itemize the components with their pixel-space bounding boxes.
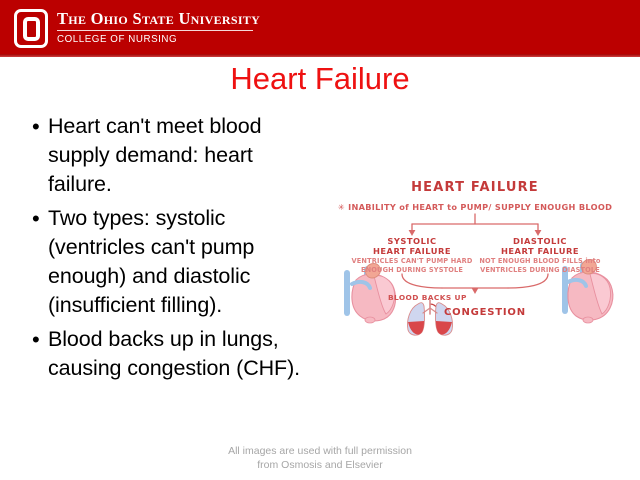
branch-heading-line2: HEART FAILURE <box>488 246 592 256</box>
branch-heading-line1: SYSTOLIC <box>360 236 464 246</box>
branch-heading-diastolic: DIASTOLIC HEART FAILURE <box>488 236 592 256</box>
bullet-glyph: • <box>26 325 48 354</box>
outcome-label: BLOOD BACKS UP <box>388 293 467 302</box>
bullet-text: Heart can't meet blood supply demand: he… <box>48 112 316 199</box>
branch-body-line1: NOT ENOUGH BLOOD FILLS into <box>479 257 601 266</box>
list-item: • Blood backs up in lungs, causing conge… <box>26 325 316 383</box>
page-title: Heart Failure <box>0 61 640 97</box>
list-item: • Two types: systolic (ventricles can't … <box>26 204 316 320</box>
branch-body-line2: VENTRICLES DURING DIASTOLE <box>479 266 601 275</box>
wordmark: The Ohio State University COLLEGE OF NUR… <box>57 9 260 45</box>
brand-lockup: The Ohio State University COLLEGE OF NUR… <box>14 9 260 48</box>
diagram-subtitle: ✳ INABILITY of HEART to PUMP/ SUPPLY ENO… <box>316 202 634 212</box>
bullet-glyph: • <box>26 112 48 141</box>
heart-failure-flow-diagram: HEART FAILURE ✳ INABILITY of HEART to PU… <box>316 180 634 345</box>
list-item: • Heart can't meet blood supply demand: … <box>26 112 316 199</box>
slide-header-band: The Ohio State University COLLEGE OF NUR… <box>0 0 640 57</box>
credit-line-2: from Osmosis and Elsevier <box>0 458 640 472</box>
block-o-inner-shape <box>23 17 40 41</box>
college-name: COLLEGE OF NURSING <box>57 33 246 45</box>
wordmark-divider <box>57 30 253 31</box>
branch-heading-line2: HEART FAILURE <box>360 246 464 256</box>
image-credit-footer: All images are used with full permission… <box>0 444 640 472</box>
osu-block-o-icon <box>14 9 48 48</box>
outcome-result: CONGESTION <box>444 307 526 318</box>
branch-heading-line1: DIASTOLIC <box>488 236 592 246</box>
bullet-glyph: • <box>26 204 48 233</box>
bullet-text: Two types: systolic (ventricles can't pu… <box>48 204 316 320</box>
credit-line-1: All images are used with full permission <box>0 444 640 458</box>
branch-body-line1: VENTRICLES CAN'T PUMP HARD <box>351 257 473 266</box>
diagram-title: HEART FAILURE <box>316 180 634 195</box>
branch-body-systolic: VENTRICLES CAN'T PUMP HARD ENOUGH DURING… <box>351 257 473 274</box>
branch-body-line2: ENOUGH DURING SYSTOLE <box>351 266 473 275</box>
bullet-list: • Heart can't meet blood supply demand: … <box>26 112 316 388</box>
branch-body-diastolic: NOT ENOUGH BLOOD FILLS into VENTRICLES D… <box>479 257 601 274</box>
arrow-head-merge <box>472 288 479 294</box>
university-name: The Ohio State University <box>57 10 260 28</box>
branch-heading-systolic: SYSTOLIC HEART FAILURE <box>360 236 464 256</box>
bullet-text: Blood backs up in lungs, causing congest… <box>48 325 316 383</box>
